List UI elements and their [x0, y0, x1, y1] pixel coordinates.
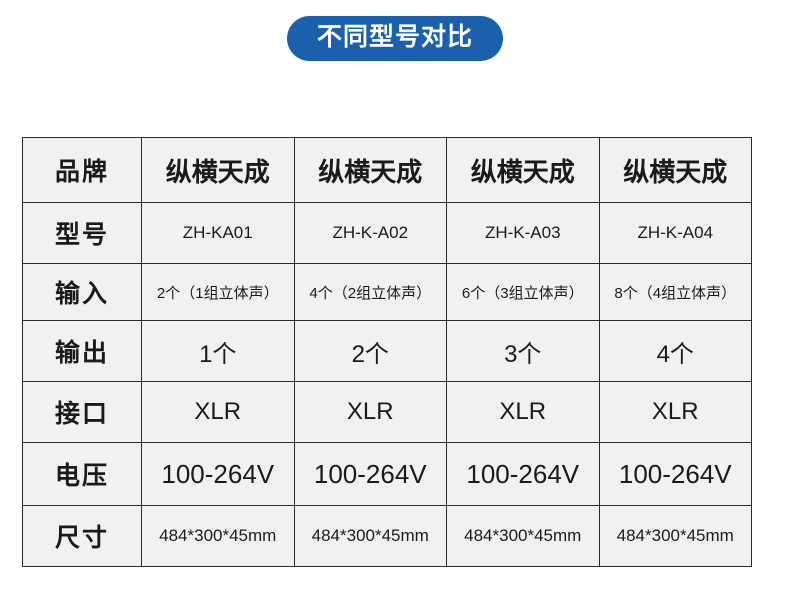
cell-interface-col2: XLR — [294, 382, 447, 443]
row-header-model: 型号 — [23, 203, 142, 264]
cell-brand-col2: 纵横天成 — [294, 138, 447, 203]
cell-input-col3: 6个（3组立体声） — [447, 264, 600, 321]
page-title-container: 不同型号对比 — [0, 16, 790, 61]
spec-table-container: 品牌 纵横天成 纵横天成 纵横天成 纵横天成 型号 ZH-KA01 ZH-K-A… — [22, 137, 751, 567]
cell-model-col4: ZH-K-A04 — [599, 203, 752, 264]
page-title: 不同型号对比 — [287, 16, 503, 61]
row-header-voltage: 电压 — [23, 443, 142, 506]
cell-input-col2: 4个（2组立体声） — [294, 264, 447, 321]
model-comparison-table: 品牌 纵横天成 纵横天成 纵横天成 纵横天成 型号 ZH-KA01 ZH-K-A… — [22, 137, 752, 567]
cell-output-col1: 1个 — [142, 321, 295, 382]
cell-dimensions-col2: 484*300*45mm — [294, 506, 447, 567]
cell-brand-col4: 纵横天成 — [599, 138, 752, 203]
row-header-dimensions: 尺寸 — [23, 506, 142, 567]
cell-dimensions-col4: 484*300*45mm — [599, 506, 752, 567]
cell-output-col3: 3个 — [447, 321, 600, 382]
cell-voltage-col2: 100-264V — [294, 443, 447, 506]
table-row: 输出 1个 2个 3个 4个 — [23, 321, 752, 382]
cell-input-col4: 8个（4组立体声） — [599, 264, 752, 321]
cell-output-col2: 2个 — [294, 321, 447, 382]
table-row: 尺寸 484*300*45mm 484*300*45mm 484*300*45m… — [23, 506, 752, 567]
cell-voltage-col1: 100-264V — [142, 443, 295, 506]
cell-interface-col3: XLR — [447, 382, 600, 443]
cell-input-col1: 2个（1组立体声） — [142, 264, 295, 321]
cell-output-col4: 4个 — [599, 321, 752, 382]
table-row: 品牌 纵横天成 纵横天成 纵横天成 纵横天成 — [23, 138, 752, 203]
cell-voltage-col4: 100-264V — [599, 443, 752, 506]
comparison-page: 不同型号对比 品牌 纵横天成 纵横天成 纵横天成 纵横天成 型号 — [0, 0, 790, 589]
cell-interface-col1: XLR — [142, 382, 295, 443]
cell-model-col3: ZH-K-A03 — [447, 203, 600, 264]
row-header-output: 输出 — [23, 321, 142, 382]
cell-model-col1: ZH-KA01 — [142, 203, 295, 264]
table-row: 型号 ZH-KA01 ZH-K-A02 ZH-K-A03 ZH-K-A04 — [23, 203, 752, 264]
row-header-input: 输入 — [23, 264, 142, 321]
cell-dimensions-col1: 484*300*45mm — [142, 506, 295, 567]
table-row: 电压 100-264V 100-264V 100-264V 100-264V — [23, 443, 752, 506]
table-row: 接口 XLR XLR XLR XLR — [23, 382, 752, 443]
cell-voltage-col3: 100-264V — [447, 443, 600, 506]
cell-brand-col1: 纵横天成 — [142, 138, 295, 203]
table-row: 输入 2个（1组立体声） 4个（2组立体声） 6个（3组立体声） 8个（4组立体… — [23, 264, 752, 321]
cell-interface-col4: XLR — [599, 382, 752, 443]
cell-model-col2: ZH-K-A02 — [294, 203, 447, 264]
row-header-interface: 接口 — [23, 382, 142, 443]
cell-dimensions-col3: 484*300*45mm — [447, 506, 600, 567]
cell-brand-col3: 纵横天成 — [447, 138, 600, 203]
row-header-brand: 品牌 — [23, 138, 142, 203]
